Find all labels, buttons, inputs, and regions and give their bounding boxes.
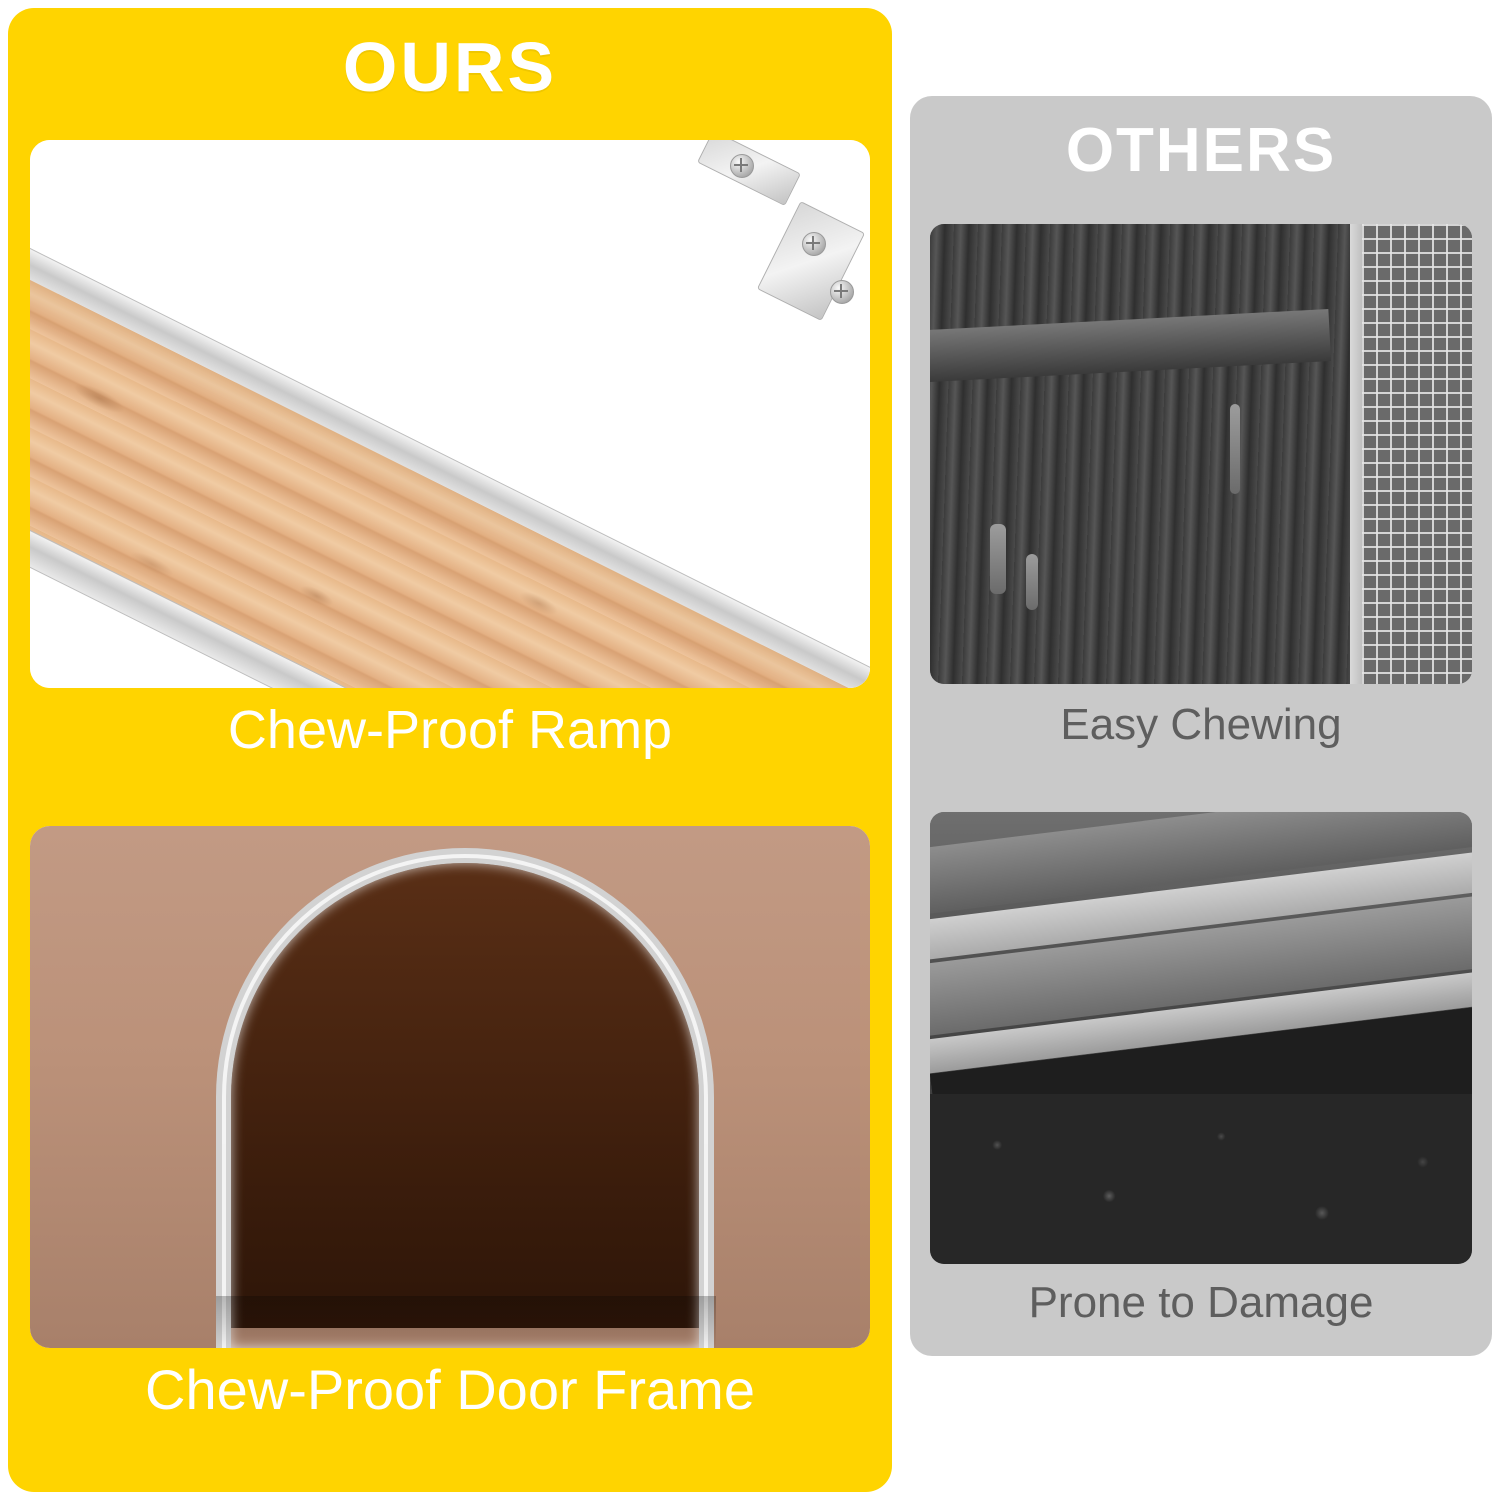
bedding-litter	[930, 1094, 1472, 1264]
ramp-screw-one	[730, 154, 754, 178]
ramp-bracket-two	[757, 201, 865, 321]
ramp-screw-two	[802, 232, 826, 256]
ramp-screw-three	[830, 280, 854, 304]
door-photo-canvas	[30, 826, 870, 1348]
ramp-photo-canvas	[30, 140, 870, 688]
damage-photo-canvas	[930, 812, 1472, 1264]
door-floor-shadow	[216, 1296, 716, 1348]
chew-mark-one	[990, 524, 1006, 594]
chew-mark-three	[1230, 404, 1240, 494]
easy-chewing-photo	[930, 224, 1472, 684]
ours-caption-ramp: Chew-Proof Ramp	[8, 700, 892, 760]
prone-to-damage-photo	[930, 812, 1472, 1264]
chew-proof-door-frame-photo	[30, 826, 870, 1348]
chewed-photo-canvas	[930, 224, 1472, 684]
wire-mesh	[1362, 224, 1472, 684]
others-caption-prone-to-damage: Prone to Damage	[910, 1278, 1492, 1328]
others-caption-easy-chewing: Easy Chewing	[910, 700, 1492, 750]
comparison-infographic: OURS Chew-Proof Ramp	[0, 0, 1500, 1500]
chew-proof-ramp-photo	[30, 140, 870, 688]
door-frame-highlight	[222, 854, 708, 1348]
ours-caption-door-frame: Chew-Proof Door Frame	[8, 1360, 892, 1420]
chew-mark-two	[1026, 554, 1038, 610]
others-title: OTHERS	[910, 118, 1492, 184]
others-panel: OTHERS Easy Chewing Prone to Dam	[910, 96, 1492, 1356]
chewed-beam	[930, 309, 1331, 383]
ours-panel: OURS Chew-Proof Ramp	[8, 8, 892, 1492]
ours-title: OURS	[8, 30, 892, 104]
